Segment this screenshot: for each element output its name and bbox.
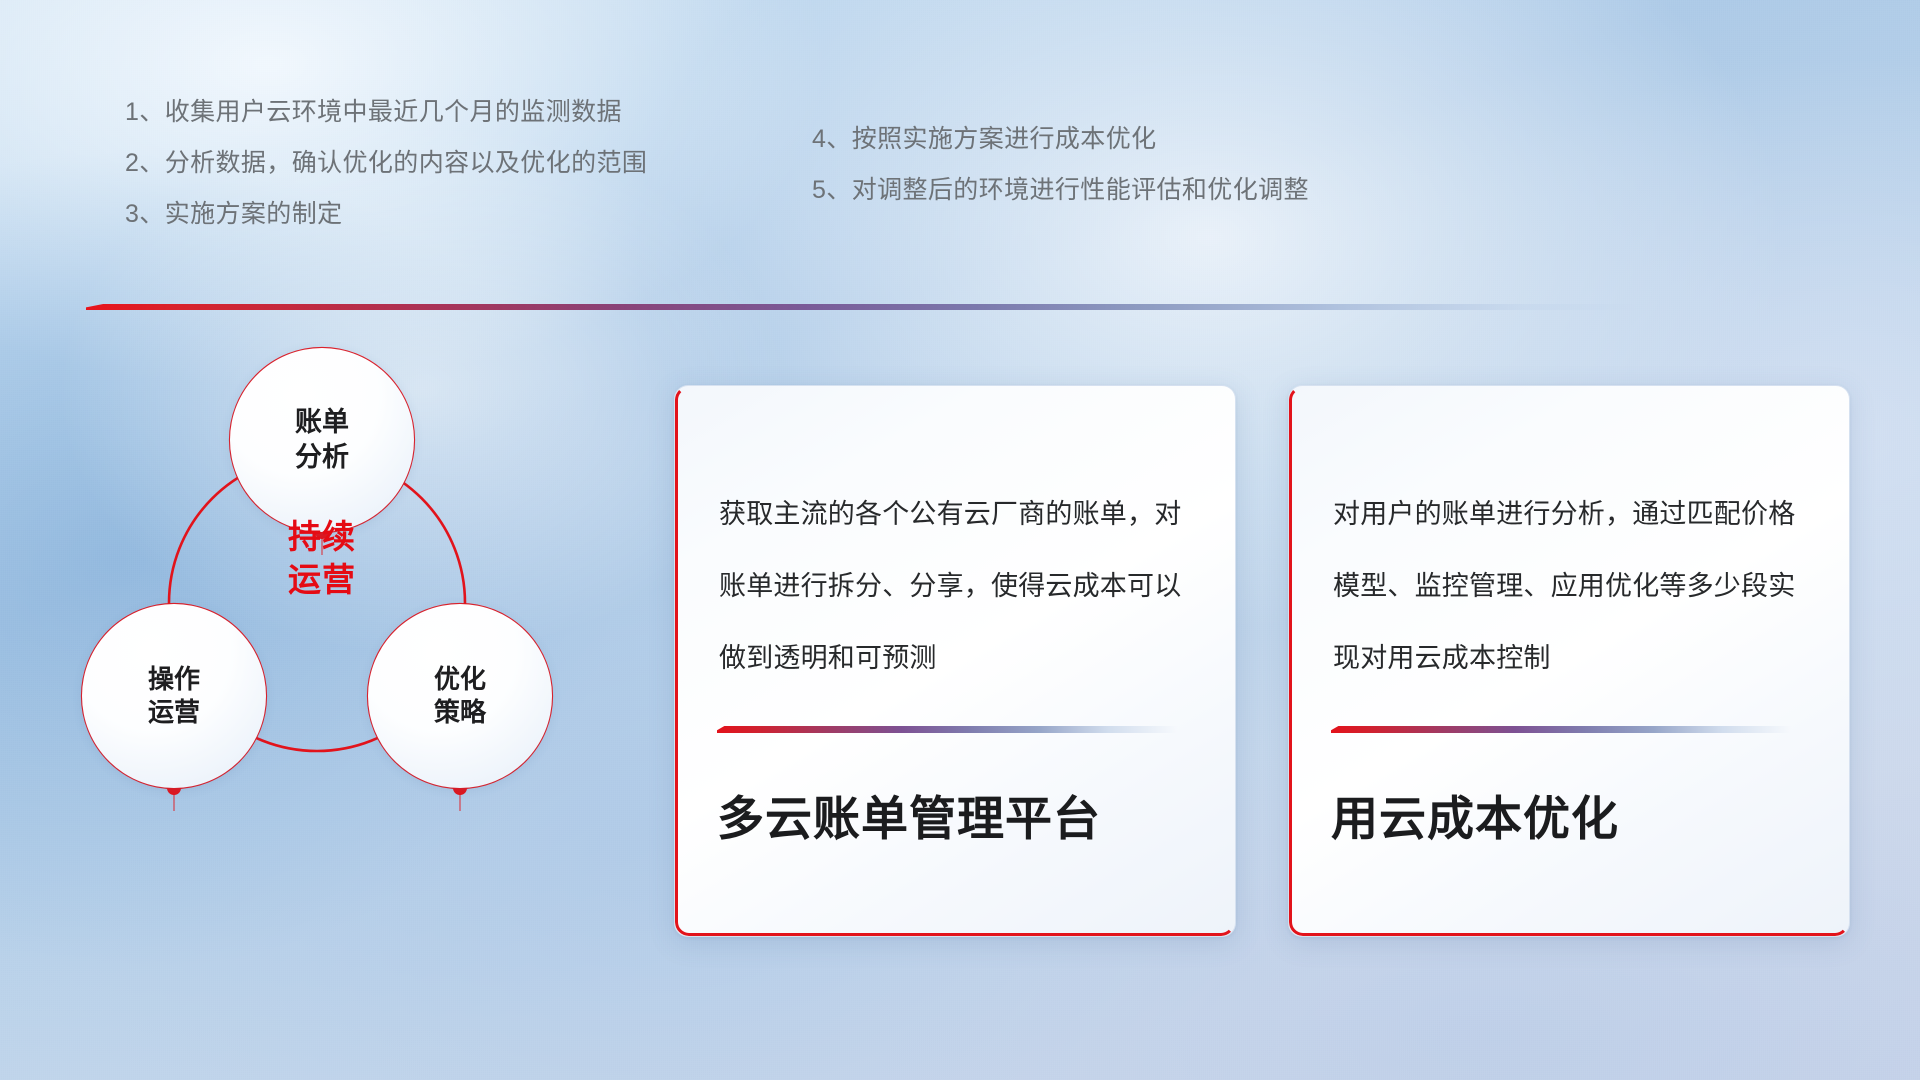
info-card-cost-optimization[interactable]: 对用户的账单进行分析，通过匹配价格模型、监控管理、应用优化等多少段实现对用云成本… — [1288, 385, 1850, 937]
cycle-node-optimization-strategy[interactable]: 优化 策略 — [368, 604, 552, 788]
slide-canvas: 1、收集用户云环境中最近几个月的监测数据 2、分析数据，确认优化的内容以及优化的… — [0, 0, 1920, 1080]
divider-bar — [86, 304, 1646, 310]
info-card-billing-body: 获取主流的各个公有云厂商的账单，对账单进行拆分、分享，使得云成本可以做到透明和可… — [719, 478, 1197, 694]
step-item-5: 5、对调整后的环境进行性能评估和优化调整 — [812, 178, 1309, 203]
step-item-2: 2、分析数据，确认优化的内容以及优化的范围 — [125, 151, 647, 176]
step-item-3: 3、实施方案的制定 — [125, 202, 647, 227]
cycle-node-strategy-line1: 优化 — [434, 663, 486, 696]
info-card-billing-platform[interactable]: 获取主流的各个公有云厂商的账单，对账单进行拆分、分享，使得云成本可以做到透明和可… — [674, 385, 1236, 937]
steps-list-left: 1、收集用户云环境中最近几个月的监测数据 2、分析数据，确认优化的内容以及优化的… — [125, 100, 647, 227]
cycle-node-operations[interactable]: 操作 运营 — [82, 604, 266, 788]
info-card-cost-body: 对用户的账单进行分析，通过匹配价格模型、监控管理、应用优化等多少段实现对用云成本… — [1333, 478, 1811, 694]
cycle-node-ops-line2: 运营 — [148, 696, 200, 729]
cycle-node-billing-line2: 分析 — [295, 440, 349, 475]
cycle-node-billing-line1: 账单 — [295, 405, 349, 440]
step-item-4: 4、按照实施方案进行成本优化 — [812, 127, 1309, 152]
cycle-center-line1: 持续 — [230, 516, 414, 559]
cycle-diagram: 账单 分析 操作 运营 优化 策略 持续 运营 — [80, 348, 640, 948]
info-card-billing-rule — [717, 726, 1177, 733]
cycle-center-line2: 运营 — [230, 559, 414, 602]
cycle-center-label: 持续 运营 — [230, 516, 414, 602]
cycle-node-strategy-line2: 策略 — [434, 696, 486, 729]
section-divider — [86, 300, 1646, 314]
info-card-cost-title: 用云成本优化 — [1331, 792, 1619, 846]
info-card-billing-title: 多云账单管理平台 — [717, 792, 1101, 846]
step-item-1: 1、收集用户云环境中最近几个月的监测数据 — [125, 100, 647, 125]
cycle-node-ops-line1: 操作 — [148, 663, 200, 696]
info-card-cost-rule — [1331, 726, 1791, 733]
cycle-node-billing-analysis[interactable]: 账单 分析 — [230, 348, 414, 532]
steps-list-right: 4、按照实施方案进行成本优化 5、对调整后的环境进行性能评估和优化调整 — [812, 127, 1309, 203]
